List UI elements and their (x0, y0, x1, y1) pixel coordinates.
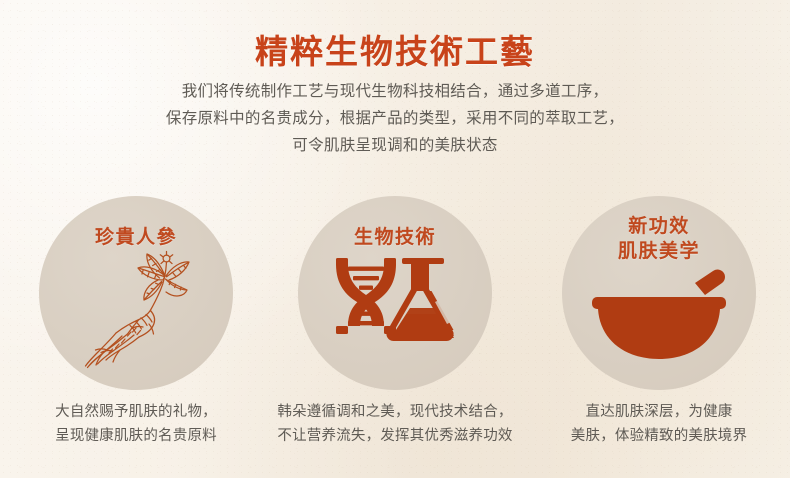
feature-column-ginseng: 珍貴人參 (14, 196, 258, 390)
caption-line: 呈现健康肌肤的名贵原料 (6, 424, 266, 448)
feature-circle-biotech: 生物技術 (298, 196, 492, 390)
page-title: 精粹生物技術工藝 (0, 25, 790, 73)
feature-circle-efficacy: 新功效 肌肤美学 (562, 196, 756, 390)
caption-line: 直达肌肤深层，为健康 (529, 400, 789, 424)
feature-column-biotech: 生物技術 (273, 196, 517, 390)
intro-line-3: 可令肌肤呈现调和的美肤状态 (0, 132, 790, 159)
feature-caption-ginseng: 大自然赐予肌肤的礼物， 呈现健康肌肤的名贵原料 (6, 400, 266, 448)
feature-caption-biotech: 韩朵遵循调和之美，现代技术结合， 不让营养流失，发挥其优秀滋养功效 (265, 400, 525, 448)
intro-line-1: 我们将传统制作工艺与现代生物科技相结合，通过多道工序， (0, 78, 790, 105)
feature-caption-efficacy: 直达肌肤深层，为健康 美肤，体验精致的美肤境界 (529, 400, 789, 448)
feature-column-efficacy: 新功效 肌肤美学 (537, 196, 781, 390)
feature-label-biotech: 生物技術 (298, 222, 492, 249)
feature-label-ginseng: 珍貴人參 (39, 222, 233, 249)
feature-circle-ginseng: 珍貴人參 (39, 196, 233, 390)
feature-label-line: 生物技術 (354, 226, 436, 248)
feature-label-line: 新功效 (562, 214, 756, 239)
feature-label-line: 珍貴人參 (95, 226, 177, 248)
caption-line: 韩朵遵循调和之美，现代技术结合， (265, 400, 525, 424)
promo-banner: 精粹生物技術工藝 我们将传统制作工艺与现代生物科技相结合，通过多道工序， 保存原… (0, 0, 790, 478)
intro-line-2: 保存原料中的名贵成分，根据产品的类型，采用不同的萃取工艺， (0, 105, 790, 132)
caption-line: 美肤，体验精致的美肤境界 (529, 424, 789, 448)
feature-label-efficacy: 新功效 肌肤美学 (562, 214, 756, 264)
caption-line: 不让营养流失，发挥其优秀滋养功效 (265, 424, 525, 448)
intro-paragraph: 我们将传统制作工艺与现代生物科技相结合，通过多道工序， 保存原料中的名贵成分，根… (0, 78, 790, 159)
feature-label-line: 肌肤美学 (562, 239, 756, 264)
caption-line: 大自然赐予肌肤的礼物， (6, 400, 266, 424)
